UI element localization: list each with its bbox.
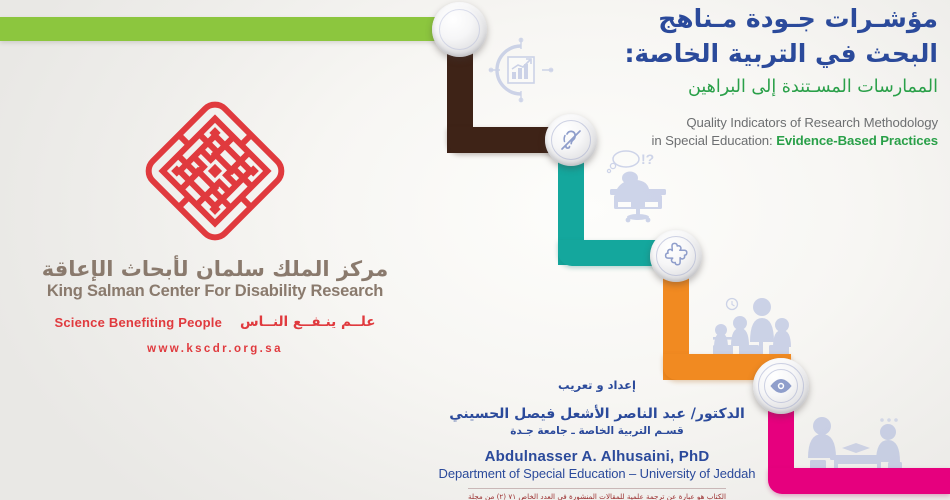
author-arabic-department: قسـم التربية الخاصة ـ جامعة جـدة [402, 425, 792, 437]
node-blank[interactable] [432, 2, 487, 57]
title-english: Quality Indicators of Research Methodolo… [568, 114, 938, 151]
author-prepared-label: إعداد و تعريب [402, 378, 792, 392]
tagline-english: Science Benefiting People [55, 315, 223, 330]
puzzle-piece-icon [662, 242, 690, 270]
author-footnote: الكتاب هو عبارة عن ترجمة علمية للمقالات … [468, 488, 726, 500]
title-arabic-line1: مؤشـرات جـودة مـناهج [568, 2, 938, 37]
svg-text:!?: !? [641, 151, 654, 167]
title-english-line1: Quality Indicators of Research Methodolo… [568, 114, 938, 133]
logo-arabic-name: مركز الملك سلمان لأبحاث الإعاقة [0, 257, 430, 281]
organization-logo-block: مركز الملك سلمان لأبحاث الإعاقة King Sal… [0, 96, 430, 355]
title-english-highlight: Evidence-Based Practices [776, 133, 938, 148]
node-autism[interactable] [650, 230, 702, 282]
deaf-ear-icon [558, 127, 584, 153]
segment-brown-corner [447, 127, 473, 153]
author-english-department: Department of Special Education – Univer… [402, 466, 792, 481]
blank-icon [459, 29, 460, 30]
title-english-line2-plain: in Special Education: [652, 133, 777, 148]
book-cover: !? [0, 0, 950, 500]
analytics-target-icon [487, 36, 555, 104]
logo-english-name: King Salman Center For Disability Resear… [0, 282, 430, 301]
eye-icon [769, 374, 793, 398]
title-english-line2: in Special Education: Evidence-Based Pra… [568, 132, 938, 151]
title-arabic-line2: البحث في التربية الخاصة: [568, 37, 938, 72]
segment-green [0, 17, 460, 41]
logo-website[interactable]: www.kscdr.org.sa [0, 343, 430, 355]
kufic-square-logo [140, 96, 290, 246]
tagline-arabic: علــم ينـفــع النــاس [240, 314, 375, 330]
title-block: مؤشـرات جـودة مـناهج البحث في التربية ال… [568, 2, 938, 151]
node-hearing[interactable] [545, 114, 597, 166]
logo-tagline: Science Benefiting People علــم ينـفــع … [0, 314, 430, 330]
node-vision[interactable] [753, 358, 809, 414]
author-english-name: Abdulnasser A. Alhusaini, PhD [402, 448, 792, 465]
segment-pink-horizontal [768, 468, 950, 494]
student-at-desk-icon: !? [600, 145, 680, 225]
author-block: إعداد و تعريب الدكتور/ عبد الناصر الأشعل… [402, 378, 792, 500]
author-arabic-name: الدكتور/ عبد الناصر الأشعل فيصل الحسيني [402, 406, 792, 422]
title-arabic-subtitle: الممارسات المسـتندة إلى البراهين [568, 75, 938, 100]
